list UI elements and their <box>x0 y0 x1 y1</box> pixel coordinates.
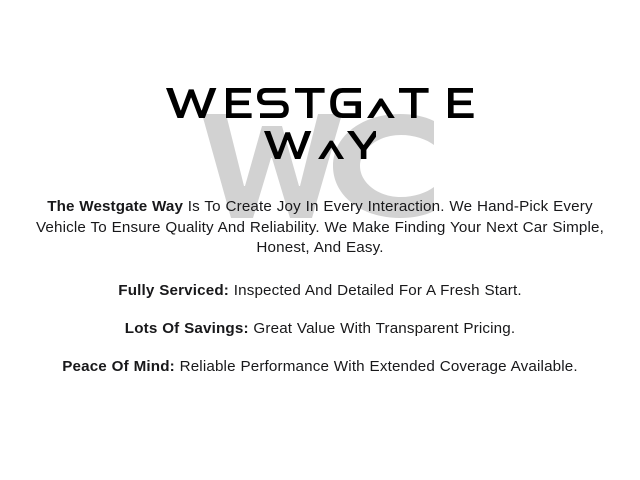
feature-item-peace-of-mind: Peace Of Mind: Reliable Performance With… <box>28 357 612 378</box>
dealer-value-proposition-card: The Westgate Way Is To Create Joy In Eve… <box>0 0 640 480</box>
logo-wordmark-westgate <box>0 86 640 122</box>
feature-item-lots-of-savings: Lots Of Savings: Great Value With Transp… <box>28 319 612 340</box>
feature-text-lots-of-savings: Great Value With Transparent Pricing. <box>249 320 516 337</box>
intro-lead-in: The Westgate Way <box>47 198 183 215</box>
feature-text-fully-serviced: Inspected And Detailed For A Fresh Start… <box>229 282 522 299</box>
feature-text-peace-of-mind: Reliable Performance With Extended Cover… <box>175 358 578 375</box>
feature-item-fully-serviced: Fully Serviced: Inspected And Detailed F… <box>28 281 612 302</box>
value-proposition-copy: The Westgate Way Is To Create Joy In Eve… <box>28 197 612 377</box>
feature-lead-in-lots-of-savings: Lots Of Savings: <box>125 320 249 337</box>
spacer-2 <box>28 302 612 319</box>
feature-lead-in-peace-of-mind: Peace Of Mind: <box>62 358 175 375</box>
spacer-3 <box>28 340 612 357</box>
feature-lead-in-fully-serviced: Fully Serviced: <box>118 282 229 299</box>
intro-paragraph: The Westgate Way Is To Create Joy In Eve… <box>28 197 612 259</box>
spacer-1 <box>28 259 612 281</box>
logo-wordmark-way <box>0 130 640 162</box>
brand-lockup <box>0 50 640 175</box>
